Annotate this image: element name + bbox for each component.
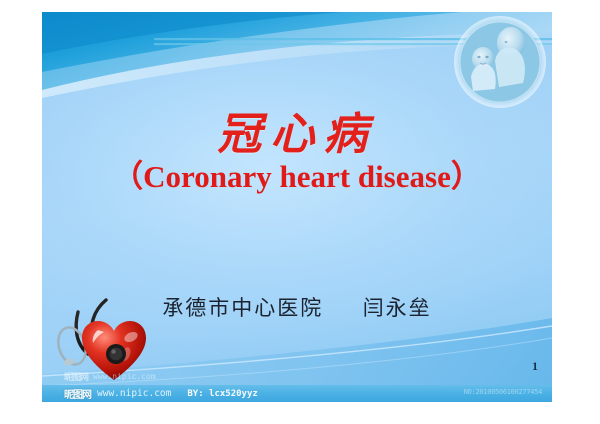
page-title-chinese: 冠心病 (42, 112, 552, 158)
mother-baby-illustration-icon (459, 21, 541, 103)
watermark-ghost-logo: 昵图网 (64, 370, 88, 383)
author-organization: 承德市中心医院 (162, 296, 323, 320)
watermark-url: www.nipic.com (97, 388, 171, 399)
presentation-slide: 昵图网 www.nipic.com 冠心病 （Coronary heart di… (42, 12, 552, 402)
watermark-ghost-url: www.nipic.com (93, 372, 156, 381)
watermark-left-group: 昵图网 www.nipic.com BY: lcx520yyz (42, 386, 258, 401)
page-number: 1 (532, 359, 538, 374)
title-block: 冠心病 （Coronary heart disease） (42, 112, 552, 194)
author-line: 承德市中心医院 闫永垒 (42, 292, 552, 322)
author-name: 闫永垒 (363, 296, 432, 320)
page-title-english: （Coronary heart disease） (42, 160, 552, 194)
watermark-logo: 昵图网 (64, 386, 91, 401)
watermark-id: NO:20100506100277454 (464, 388, 542, 396)
corner-photo (454, 16, 546, 108)
watermark-bar: 昵图网 www.nipic.com BY: lcx520yyz NO:20100… (42, 385, 552, 402)
watermark-author: BY: lcx520yyz (187, 389, 257, 399)
mother-and-baby-photo-icon (459, 21, 541, 103)
screenshot-root: 昵图网 www.nipic.com 冠心病 （Coronary heart di… (0, 0, 600, 424)
watermark-ghost: 昵图网 www.nipic.com (64, 370, 156, 383)
